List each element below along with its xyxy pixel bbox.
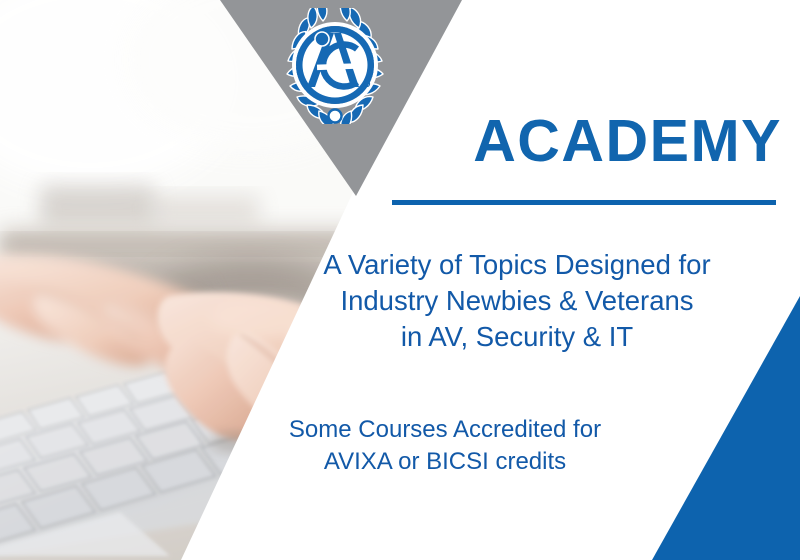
- subheadline-line-1: A Variety of Topics Designed for: [250, 247, 784, 283]
- subheadline-line-3: in AV, Security & IT: [250, 319, 784, 355]
- accreditation-note: Some Courses Accredited for AVIXA or BIC…: [180, 414, 710, 479]
- academy-laurel-wreath-logo: [277, 8, 393, 124]
- academy-promo-banner: ACADEMY A Variety of Topics Designed for…: [0, 0, 800, 560]
- accreditation-line-1: Some Courses Accredited for: [180, 414, 710, 446]
- subheadline: A Variety of Topics Designed for Industr…: [250, 247, 784, 355]
- subheadline-line-2: Industry Newbies & Veterans: [250, 283, 784, 319]
- page-title: ACADEMY: [392, 112, 782, 171]
- title-underline-rule: [392, 200, 776, 205]
- accreditation-line-2: AVIXA or BICSI credits: [180, 446, 710, 478]
